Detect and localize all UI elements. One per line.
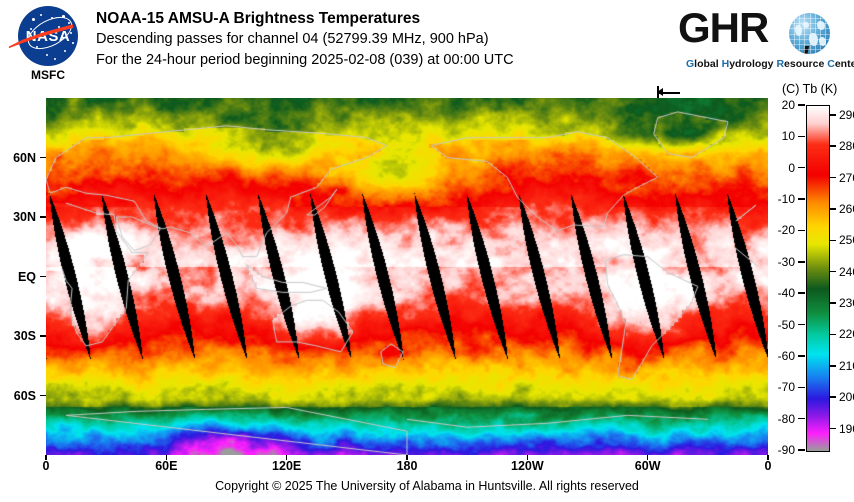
left-arrow-marker-icon [640, 86, 680, 99]
colorbar-celsius-label: -80 [778, 412, 795, 426]
colorbar-kelvin-label: 270 [839, 171, 854, 185]
ghrc-globe-parallel [789, 18, 830, 19]
colorbar-kelvin-tick [829, 302, 836, 304]
nasa-logo: NASA MSFC [10, 6, 86, 84]
colorbar-kelvin-label: 200 [839, 390, 854, 404]
colorbar-kelvin-label: 220 [839, 327, 854, 341]
colorbar-celsius-tick [798, 261, 805, 263]
map-y-label: 60S [14, 389, 36, 403]
ghrc-tagline-part: lobal [694, 58, 721, 70]
ghrc-tagline-part: C [827, 58, 835, 70]
ghrc-wordmark: GHR [678, 4, 768, 52]
nasa-logo-star [46, 54, 48, 56]
page-title: NOAA-15 AMSU-A Brightness Temperatures [96, 8, 514, 29]
map-x-label: 120W [511, 459, 544, 473]
nasa-logo-star [64, 50, 66, 52]
ghrc-tagline-part: R [776, 58, 784, 70]
nasa-logo-center-label: MSFC [10, 68, 86, 82]
colorbar-kelvin-label: 190 [839, 422, 854, 436]
nasa-logo-star [54, 58, 56, 60]
map-x-label: 60W [635, 459, 661, 473]
map-x-label: 180 [397, 459, 418, 473]
ghrc-globe-landmass [817, 21, 825, 30]
colorbar-celsius-label: -10 [778, 192, 795, 206]
colorbar-celsius-label: 20 [782, 98, 795, 112]
colorbar-kelvin-tick [829, 428, 836, 430]
ghrc-globe-icon [789, 13, 830, 54]
ghrc-tagline-part: ydrology [729, 58, 776, 70]
colorbar-celsius-tick [798, 449, 805, 451]
colorbar-kelvin-label: 250 [839, 233, 854, 247]
colorbar-celsius-tick [798, 355, 805, 357]
ghrc-globe-landmass [809, 33, 818, 46]
colorbar-kelvin-label: 240 [839, 265, 854, 279]
colorbar-celsius-label: 0 [788, 161, 795, 175]
colorbar-kelvin-label: 280 [839, 139, 854, 153]
map-y-tick [40, 395, 46, 397]
map-y-label: 30N [13, 210, 36, 224]
colorbar-kelvin-label: 210 [839, 359, 854, 373]
colorbar-celsius-tick [798, 198, 805, 200]
map-y-tick [40, 276, 46, 278]
nasa-logo-star [40, 14, 42, 16]
title-block: NOAA-15 AMSU-A Brightness Temperatures D… [96, 8, 514, 71]
colorbar-kelvin-tick [829, 396, 836, 398]
ghrc-logo: GHR Global Hydrology Resource Center [678, 6, 848, 76]
colorbar-kelvin-label: 290 [839, 108, 854, 122]
colorbar-celsius-label: -20 [778, 223, 795, 237]
ghrc-globe-landmass [803, 22, 809, 28]
colorbar-celsius-tick [798, 324, 805, 326]
colorbar-kelvin-tick [829, 145, 836, 147]
nasa-logo-star [32, 18, 35, 21]
colorbar-kelvin-tick [829, 208, 836, 210]
colorbar-kelvin-tick [829, 334, 836, 336]
ghrc-globe-landmass [819, 37, 826, 46]
map-y-label: 60N [13, 151, 36, 165]
colorbar-celsius-label: -50 [778, 318, 795, 332]
colorbar-celsius-tick [798, 418, 805, 420]
page-period: For the 24-hour period beginning 2025-02… [96, 50, 514, 71]
colorbar-kelvin-label: 260 [839, 202, 854, 216]
colorbar-header: (C) Tb (K) [782, 82, 837, 96]
colorbar-celsius-tick [798, 292, 805, 294]
colorbar-celsius-label: -30 [778, 255, 795, 269]
colorbar-celsius-tick [798, 387, 805, 389]
marker-arrowhead [657, 88, 663, 96]
colorbar-celsius-label: -40 [778, 286, 795, 300]
colorbar-kelvin-tick [829, 271, 836, 273]
colorbar-celsius-tick [798, 136, 805, 138]
ghrc-globe-parallel [789, 49, 830, 50]
colorbar-kelvin-label: 230 [839, 296, 854, 310]
map-y-label: EQ [18, 270, 36, 284]
colorbar-celsius-label: -60 [778, 349, 795, 363]
colorbar-celsius-tick [798, 104, 805, 106]
colorbar-gradient [807, 106, 829, 451]
colorbar-kelvin-tick [829, 365, 836, 367]
map-y-label: 30S [14, 329, 36, 343]
copyright-footer: Copyright © 2025 The University of Alaba… [0, 479, 854, 493]
colorbar-celsius-tick [798, 167, 805, 169]
map-y-tick [40, 216, 46, 218]
map-canvas[interactable] [46, 98, 768, 455]
colorbar-kelvin-tick [829, 114, 836, 116]
ghrc-tagline-part: enter [835, 58, 854, 70]
map-x-label: 120E [272, 459, 301, 473]
ghrc-tagline-part: G [686, 58, 694, 70]
ghrc-globe-landmass [795, 25, 802, 36]
colorbar-celsius-tick [798, 230, 805, 232]
map-y-tick [40, 157, 46, 159]
map-x-label: 60E [155, 459, 177, 473]
ghrc-tagline: Global Hydrology Resource Center [686, 58, 854, 70]
colorbar-kelvin-tick [829, 177, 836, 179]
brightness-temperature-map[interactable] [46, 98, 768, 455]
colorbar-celsius-label: 10 [782, 129, 795, 143]
ghrc-tagline-part: esource [784, 58, 827, 70]
map-y-tick [40, 335, 46, 337]
page-subtitle: Descending passes for channel 04 (52799.… [96, 29, 514, 50]
colorbar-kelvin-tick [829, 240, 836, 242]
map-x-label: 0 [765, 459, 772, 473]
colorbar[interactable] [806, 105, 830, 452]
colorbar-celsius-label: -90 [778, 443, 795, 457]
map-x-label: 0 [43, 459, 50, 473]
colorbar-celsius-label: -70 [778, 380, 795, 394]
